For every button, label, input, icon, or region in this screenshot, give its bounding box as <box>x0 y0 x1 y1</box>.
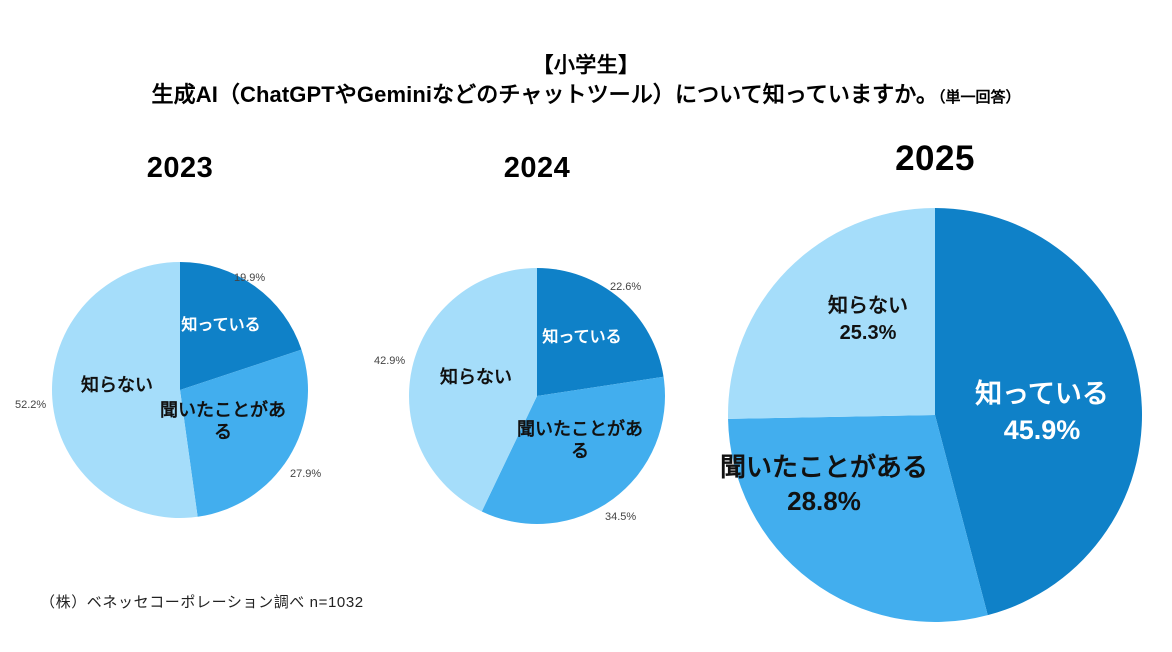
title-audience: 【小学生】 <box>0 52 1172 80</box>
pie-chart-2025: 知っている 45.9% 聞いたことがある 28.8% 知らない 25.3% <box>728 208 1142 622</box>
pie-2024-svg <box>409 268 665 524</box>
title-question: 生成AI（ChatGPTやGeminiなどのチャットツール）について知っています… <box>0 80 1172 113</box>
pie-2023-slices <box>52 262 308 518</box>
pie-2024-slices <box>409 268 665 524</box>
chart-canvas: 【小学生】 生成AI（ChatGPTやGeminiなどのチャットツール）について… <box>0 0 1172 652</box>
pie-2025-svg <box>728 208 1142 622</box>
year-label-2025: 2025 <box>873 139 997 179</box>
pct-callout-2024-know: 22.6% <box>610 281 641 293</box>
pie-slice-2024-know <box>537 268 664 396</box>
pie-slice-2023-dontknow <box>52 262 198 518</box>
title-question-note: （単一回答） <box>938 89 1021 106</box>
pie-2023-svg <box>52 262 308 518</box>
year-label-2024: 2024 <box>477 152 597 185</box>
pct-callout-2023-know: 19.9% <box>234 272 265 284</box>
source-note: （株）ベネッセコーポレーション調べ n=1032 <box>40 591 364 612</box>
pct-callout-2024-dontknow: 42.9% <box>374 355 405 367</box>
pie-chart-2024: 知っている 聞いたことがある 知らない <box>409 268 665 524</box>
title-question-main: 生成AI（ChatGPTやGeminiなどのチャットツール）について知っています… <box>152 82 938 107</box>
pct-callout-2024-heard: 34.5% <box>605 511 636 523</box>
chart-title: 【小学生】 生成AI（ChatGPTやGeminiなどのチャットツール）について… <box>0 52 1172 113</box>
pie-slice-2025-dontknow <box>728 208 935 419</box>
pct-callout-2023-heard: 27.9% <box>290 468 321 480</box>
pct-callout-2023-dontknow: 52.2% <box>15 399 46 411</box>
pie-chart-2023: 知っている 聞いたことがある 知らない <box>52 262 308 518</box>
year-label-2023: 2023 <box>120 152 240 185</box>
pie-2025-slices <box>728 208 1142 622</box>
